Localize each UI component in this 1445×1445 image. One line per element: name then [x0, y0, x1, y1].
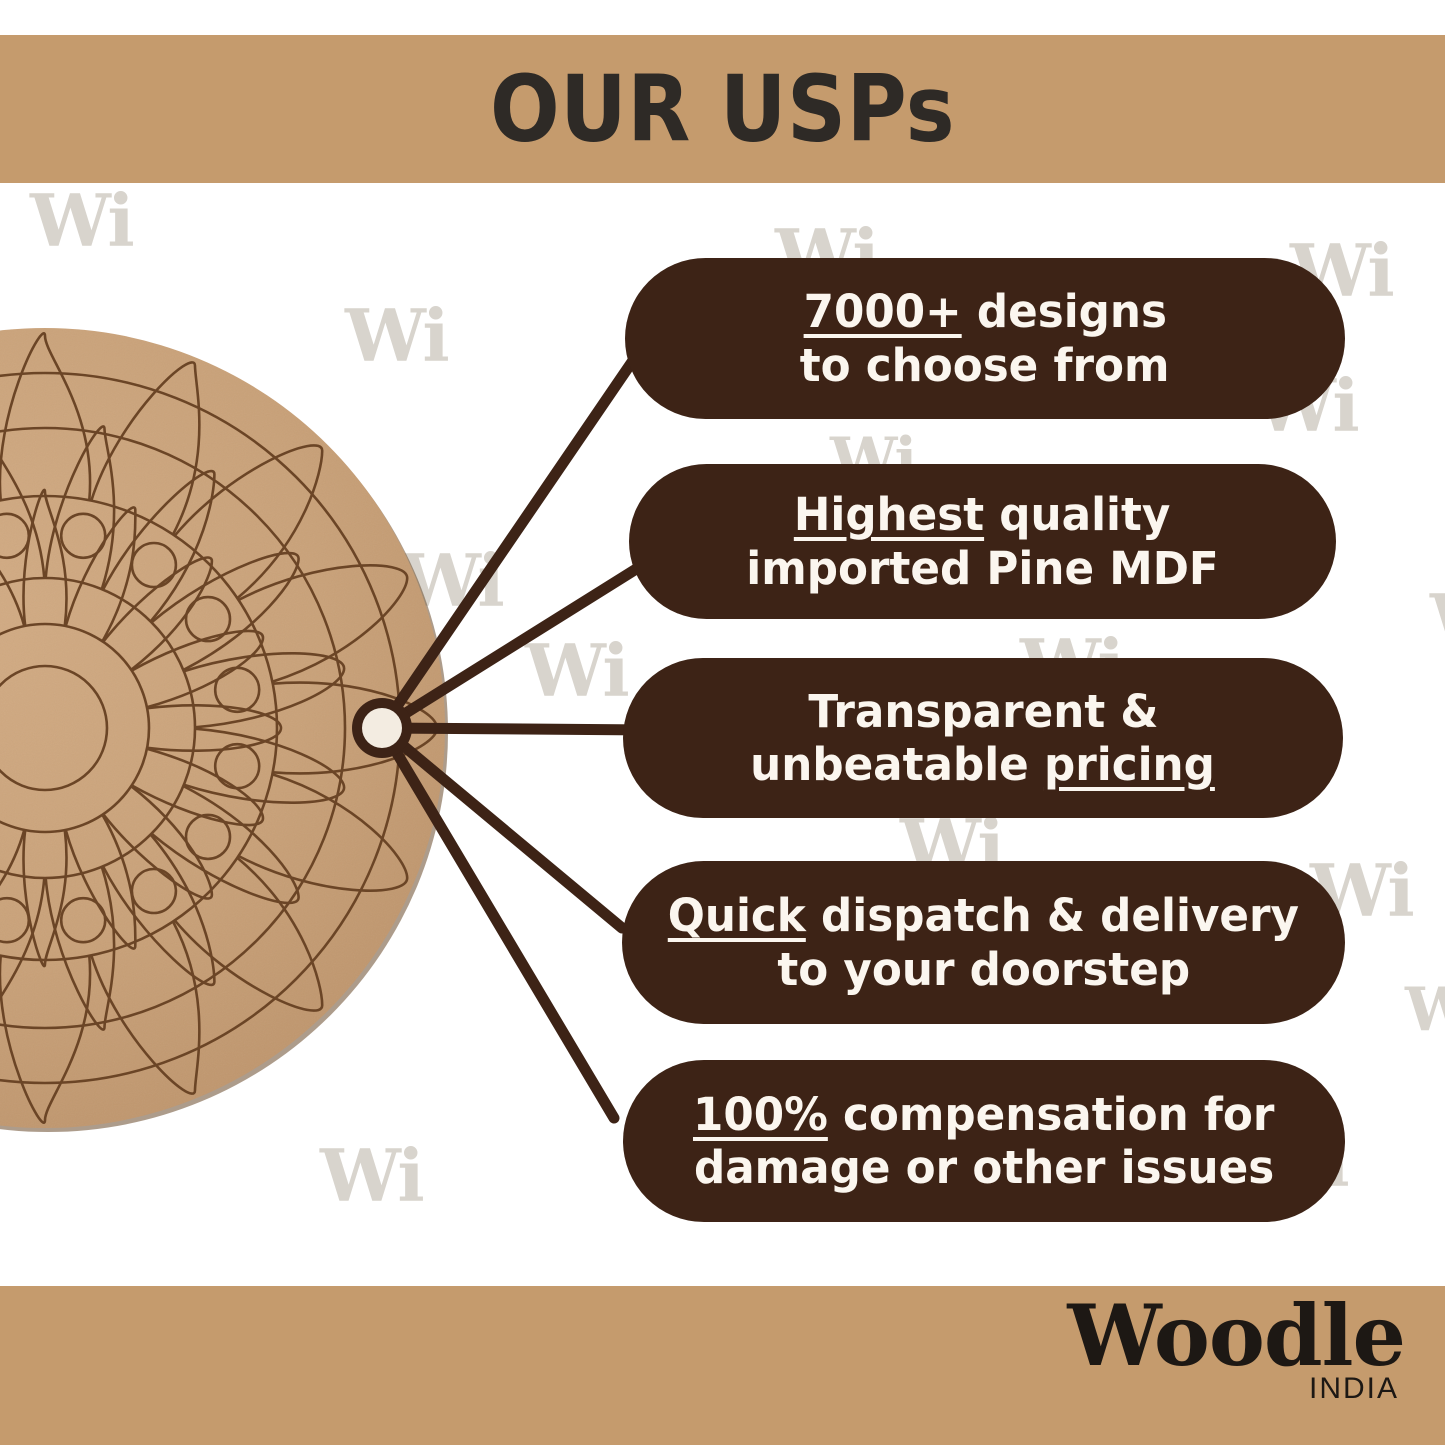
usp-quality-line-2: imported Pine MDF [746, 542, 1218, 595]
infographic-page: WiWiWiWiWiWiWiWiWiWiWiWiWiWiWiWiWiWiWiWi [0, 0, 1445, 1445]
usp-dispatch-line-1: Quick dispatch & delivery [668, 889, 1299, 942]
usp-designs-line-2: to choose from [800, 339, 1170, 392]
usp-pricing-line-2: unbeatable pricing [751, 738, 1216, 791]
usp-compensation[interactable]: 100% compensation fordamage or other iss… [623, 1060, 1345, 1222]
usp-dispatch[interactable]: Quick dispatch & deliveryto your doorste… [622, 861, 1345, 1024]
usp-designs[interactable]: 7000+ designsto choose from [625, 258, 1345, 419]
usp-pricing-line-1: Transparent & [808, 685, 1158, 738]
page-title: OUR USPs [490, 56, 955, 162]
usp-dispatch-line-2: to your doorstep [777, 943, 1190, 996]
usp-quality-line-1: Highest quality [794, 488, 1170, 541]
header-band: OUR USPs [0, 35, 1445, 183]
usp-compensation-line-2: damage or other issues [694, 1141, 1274, 1194]
usp-quality[interactable]: Highest qualityimported Pine MDF [629, 464, 1336, 619]
brand-logo: Woodle INDIA [1067, 1296, 1405, 1406]
brand-name: Woodle [1067, 1296, 1405, 1376]
usp-pill-list: 7000+ designsto choose fromHighest quali… [0, 0, 1445, 1445]
usp-pricing[interactable]: Transparent &unbeatable pricing [623, 658, 1343, 818]
usp-compensation-line-1: 100% compensation for [693, 1088, 1274, 1141]
usp-designs-line-1: 7000+ designs [803, 285, 1166, 338]
